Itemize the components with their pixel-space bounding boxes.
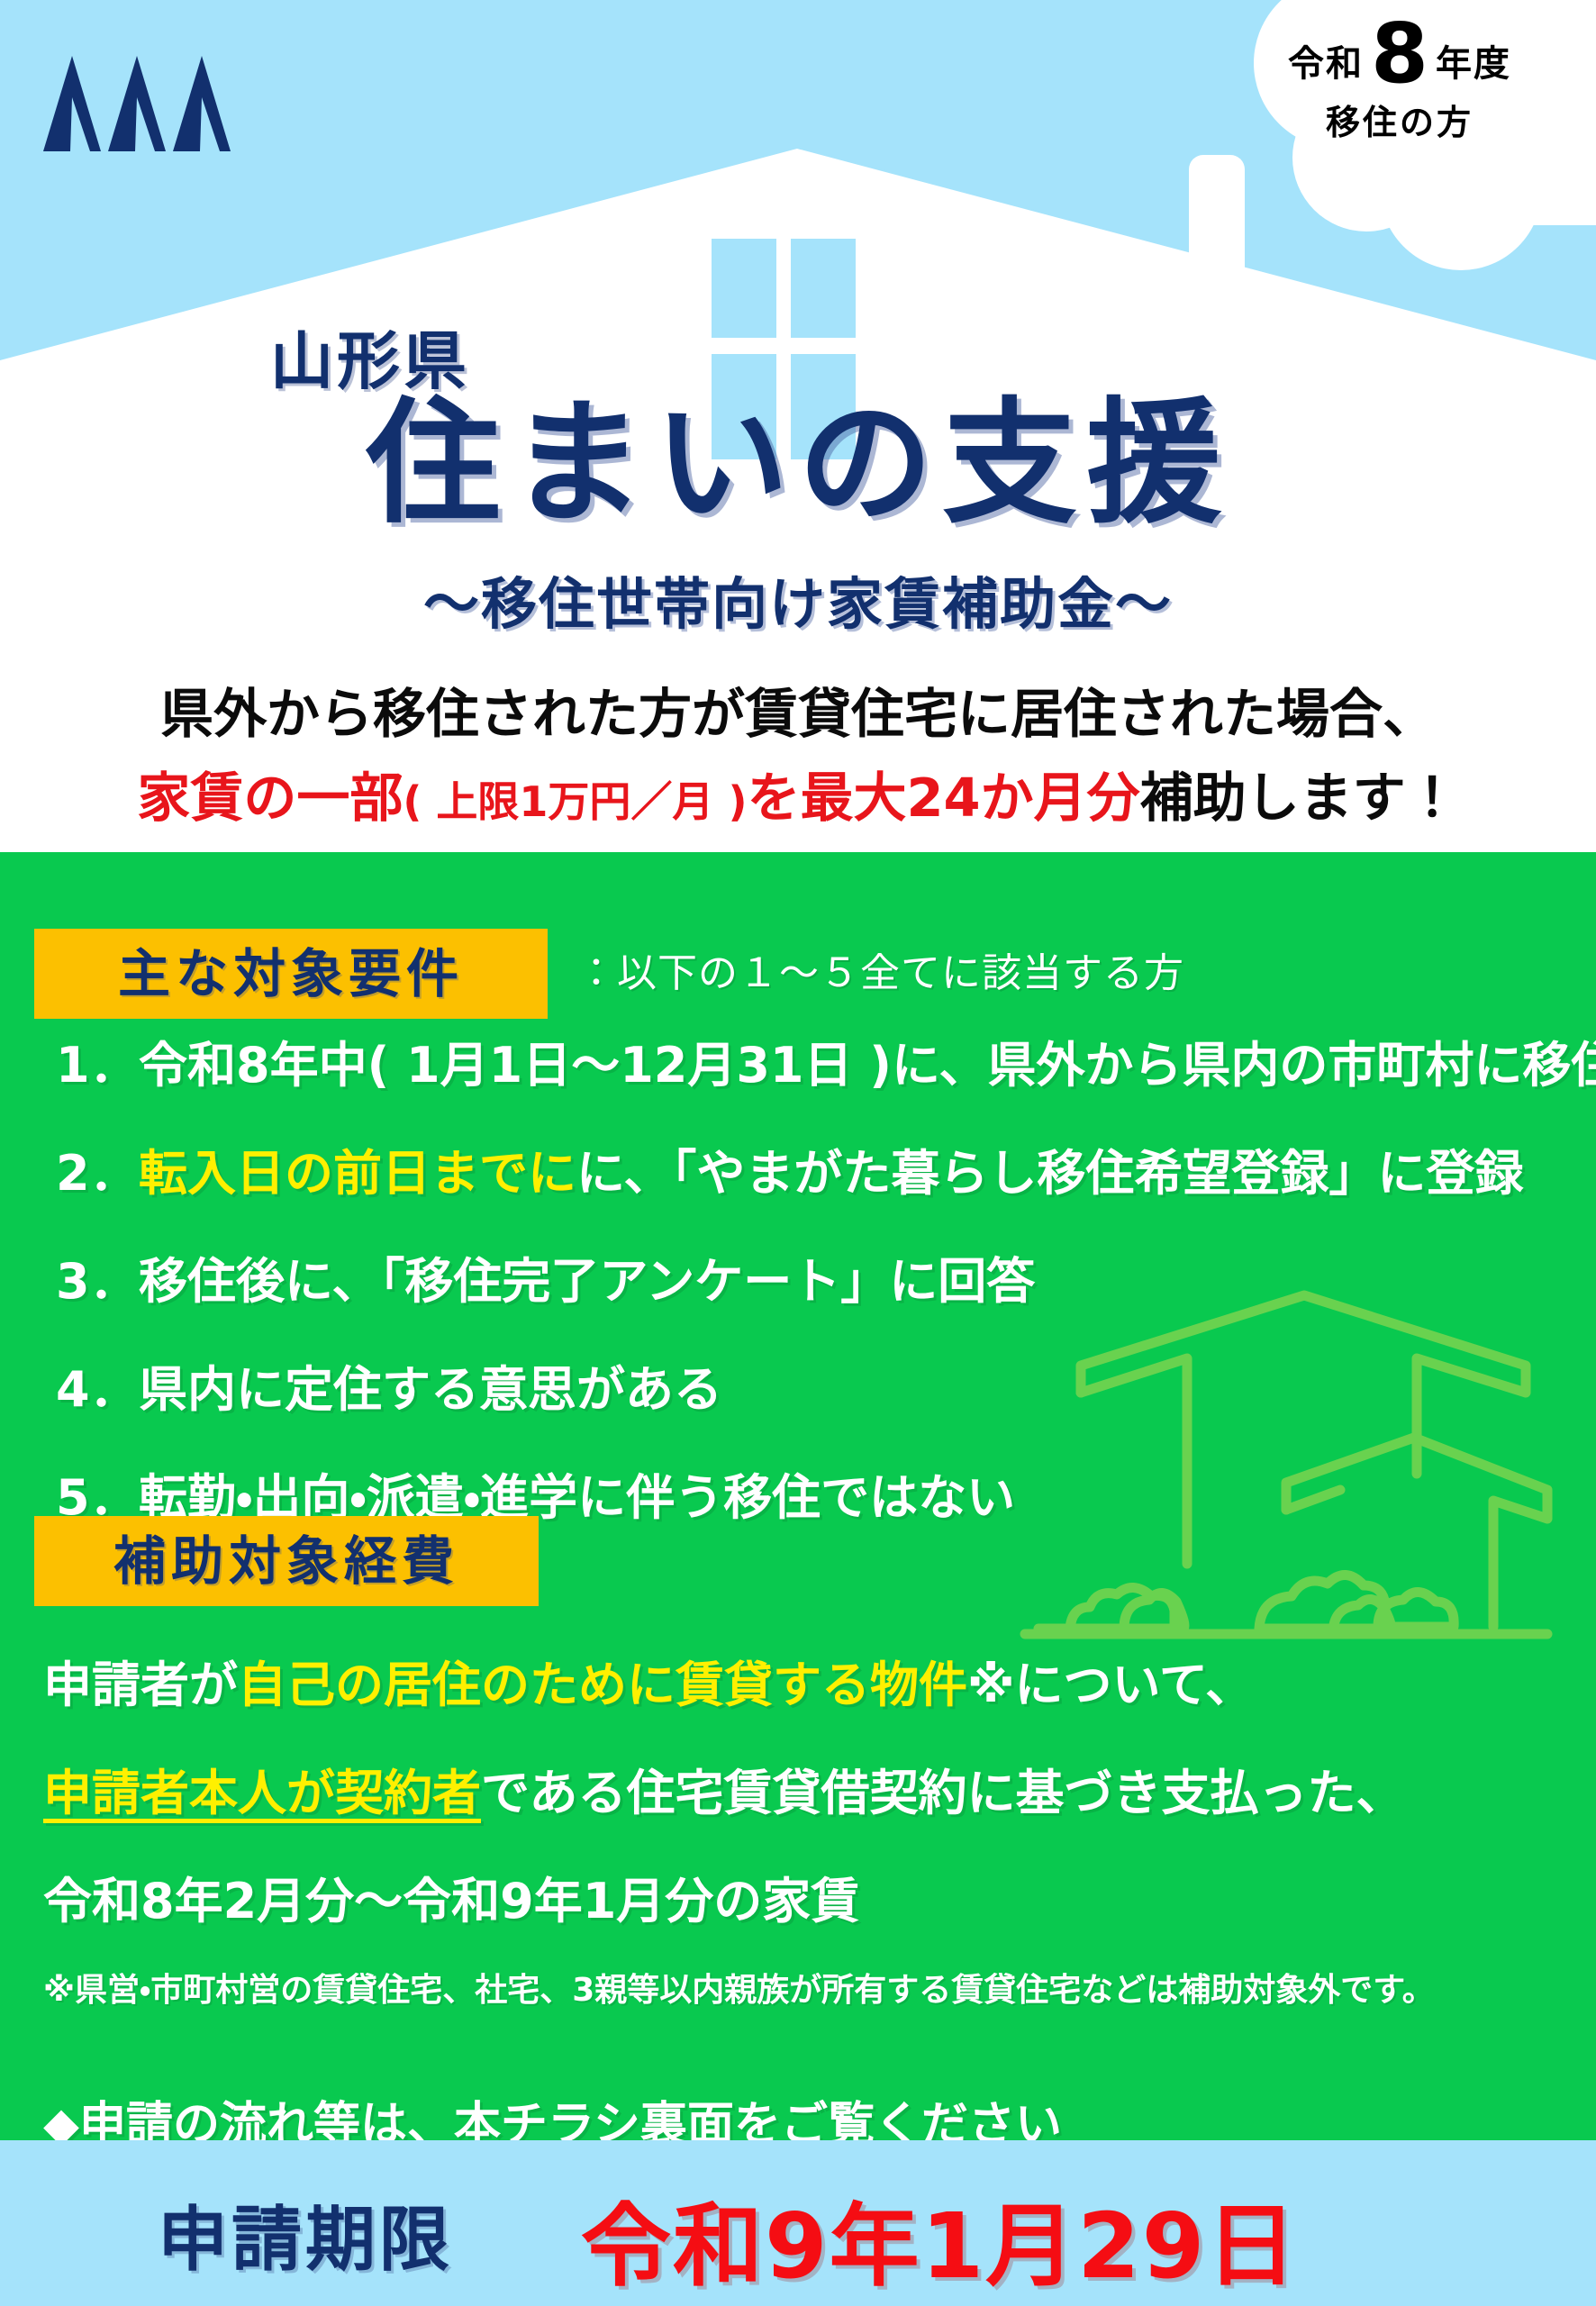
requirement-3-num: 3． — [56, 1241, 139, 1312]
three-mountain-peaks-logo — [36, 25, 270, 151]
deadline-label: 申請期限 — [158, 2183, 453, 2284]
green-body-section: 主な対象要件 ：以下の１〜５全てに該当する方 1．令和8年中( 1月1日〜12月… — [0, 852, 1596, 2140]
requirement-2-num: 2． — [56, 1133, 139, 1204]
era-badge: 令和 8 年度 移住の方 — [1256, 20, 1544, 140]
era-suffix: 年度 — [1436, 46, 1511, 87]
deadline-footer: 申請期限 令和9年1月29日 — [0, 2140, 1596, 2306]
requirement-2-highlight: 転入日の前日までに — [139, 1145, 576, 1202]
lead-line-2: 家賃の一部( 上限1万円／月 )を最大24か月分補助します！ — [0, 755, 1596, 831]
expenses-line2-highlight: 申請者本人が契約者 — [43, 1765, 481, 1821]
era-number: 8 — [1371, 20, 1428, 87]
requirement-item-3: 3．移住後に、「移住完了アンケート」に回答 — [56, 1241, 1035, 1312]
lead2-part2: ( 上限1万円／月 ) — [403, 777, 747, 826]
expenses-line1-post: ※について、 — [967, 1657, 1254, 1713]
hero-section: 令和 8 年度 移住の方 山形県 住まいの支援 〜移住世帯向け家賃補助金〜 県外… — [0, 0, 1596, 852]
requirement-item-4: 4．県内に定住する意思がある — [56, 1349, 722, 1421]
deadline-date: 令和9年1月29日 — [581, 2173, 1298, 2303]
requirement-1-num: 1． — [56, 1025, 139, 1096]
requirement-1-text: 令和8年中( 1月1日〜12月31日 )に、県外から県内の市町村に移住 — [139, 1037, 1596, 1094]
requirement-4-num: 4． — [56, 1349, 139, 1421]
requirements-tag: 主な対象要件 — [34, 929, 548, 1019]
era-subtitle: 移住の方 — [1256, 105, 1544, 140]
requirement-4-text: 県内に定住する意思がある — [139, 1361, 722, 1418]
requirement-item-2: 2．転入日の前日までにに、「やまがた暮らし移住希望登録」に登録 — [56, 1133, 1523, 1204]
expenses-line-1: 申請者が自己の居住のために賃貸する物件※について、 — [43, 1645, 1254, 1716]
page-subtitle: 〜移住世帯向け家賃補助金〜 — [0, 558, 1596, 640]
requirements-tag-note: ：以下の１〜５全てに該当する方 — [576, 940, 1184, 998]
back-side-reference: ◆申請の流れ等は、本チラシ裏面をご覧ください — [43, 2086, 1062, 2140]
requirement-2-text: に、「やまがた暮らし移住希望登録」に登録 — [576, 1145, 1523, 1202]
lead2-part1: 家賃の一部 — [137, 767, 403, 829]
requirement-3-text: 移住後に、「移住完了アンケート」に回答 — [139, 1253, 1035, 1310]
expenses-footnote: ※県営・市町村営の賃貸住宅、社宅、3親等以内親族が所有する賃貸住宅などは補助対象… — [43, 1964, 1435, 2011]
expenses-tag: 補助対象経費 — [34, 1516, 539, 1606]
expenses-line1-pre: 申請者が — [43, 1657, 238, 1713]
expenses-line-2: 申請者本人が契約者である住宅賃貸借契約に基づき支払った、 — [43, 1753, 1404, 1824]
poster-root: 令和 8 年度 移住の方 山形県 住まいの支援 〜移住世帯向け家賃補助金〜 県外… — [0, 0, 1596, 2306]
requirement-item-1: 1．令和8年中( 1月1日〜12月31日 )に、県外から県内の市町村に移住 — [56, 1025, 1596, 1096]
expenses-line1-highlight: 自己の居住のために賃貸する物件 — [238, 1657, 967, 1713]
lead-line-1: 県外から移住された方が賃貸住宅に居住された場合、 — [0, 671, 1596, 748]
lead2-part4: 補助します！ — [1140, 767, 1459, 829]
era-prefix: 令和 — [1288, 46, 1364, 87]
expenses-line2-post: である住宅賃貸借契約に基づき支払った、 — [481, 1765, 1404, 1821]
page-title: 住まいの支援 — [0, 396, 1596, 531]
expenses-line-3: 令和8年2月分〜令和9年1月分の家賃 — [43, 1861, 859, 1932]
lead2-part3: を最大24か月分 — [747, 767, 1139, 829]
house-outline-decoration — [1007, 1248, 1565, 1672]
